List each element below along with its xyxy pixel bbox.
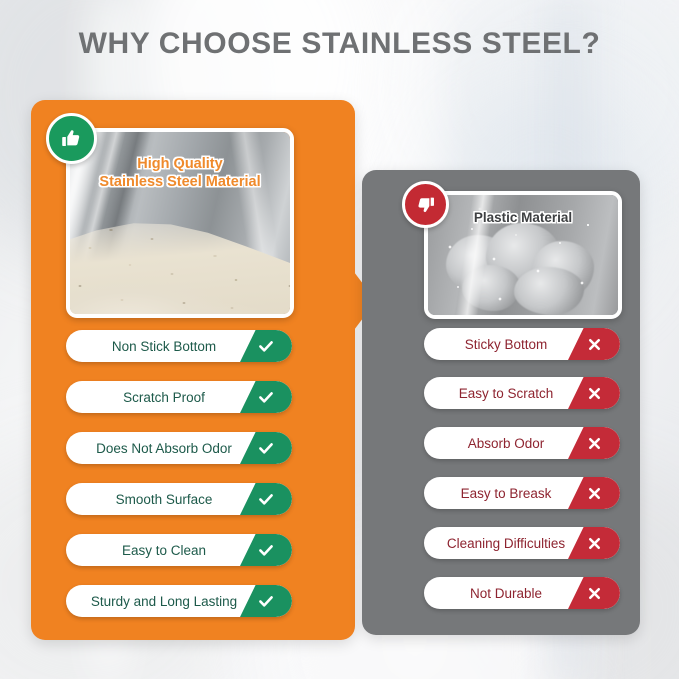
- cross-icon: [568, 377, 620, 409]
- con-feature-6[interactable]: Not Durable: [424, 577, 620, 609]
- con-feature-label: Absorb Odor: [468, 436, 545, 451]
- con-feature-4[interactable]: Easy to Breask: [424, 477, 620, 509]
- con-feature-label: Sticky Bottom: [465, 337, 548, 352]
- check-icon: [240, 330, 292, 362]
- stainless-steel-photo: High Quality Stainless Steel Material: [66, 128, 294, 318]
- thumbs-down-icon: [402, 181, 449, 228]
- con-feature-label: Easy to Breask: [461, 486, 552, 501]
- con-feature-2[interactable]: Easy to Scratch: [424, 377, 620, 409]
- pro-feature-5[interactable]: Easy to Clean: [66, 534, 292, 566]
- pro-feature-label: Smooth Surface: [116, 492, 213, 507]
- thumbs-up-icon: [46, 113, 97, 164]
- con-feature-label: Easy to Scratch: [459, 386, 554, 401]
- pro-feature-label: Non Stick Bottom: [112, 339, 216, 354]
- con-feature-label: Cleaning Difficulties: [447, 536, 565, 551]
- infographic-canvas: WHY CHOOSE STAINLESS STEEL? High Quality…: [0, 0, 679, 679]
- con-feature-1[interactable]: Sticky Bottom: [424, 328, 620, 360]
- pro-feature-label: Easy to Clean: [122, 543, 206, 558]
- check-icon: [240, 381, 292, 413]
- pro-feature-label: Sturdy and Long Lasting: [91, 594, 237, 609]
- con-feature-5[interactable]: Cleaning Difficulties: [424, 527, 620, 559]
- pro-feature-label: Scratch Proof: [123, 390, 205, 405]
- cross-icon: [568, 577, 620, 609]
- cross-icon: [568, 477, 620, 509]
- pro-feature-label: Does Not Absorb Odor: [96, 441, 232, 456]
- pro-feature-1[interactable]: Non Stick Bottom: [66, 330, 292, 362]
- check-icon: [240, 483, 292, 515]
- plastic-photo: Plastic Material: [424, 191, 622, 319]
- pro-feature-6[interactable]: Sturdy and Long Lasting: [66, 585, 292, 617]
- con-feature-3[interactable]: Absorb Odor: [424, 427, 620, 459]
- pro-feature-2[interactable]: Scratch Proof: [66, 381, 292, 413]
- page-title: WHY CHOOSE STAINLESS STEEL?: [0, 27, 679, 61]
- cross-icon: [568, 427, 620, 459]
- check-icon: [240, 585, 292, 617]
- cross-icon: [568, 527, 620, 559]
- check-icon: [240, 534, 292, 566]
- con-feature-label: Not Durable: [470, 586, 542, 601]
- check-icon: [240, 432, 292, 464]
- pro-feature-3[interactable]: Does Not Absorb Odor: [66, 432, 292, 464]
- cross-icon: [568, 328, 620, 360]
- pro-feature-4[interactable]: Smooth Surface: [66, 483, 292, 515]
- residue-texture: [428, 195, 618, 315]
